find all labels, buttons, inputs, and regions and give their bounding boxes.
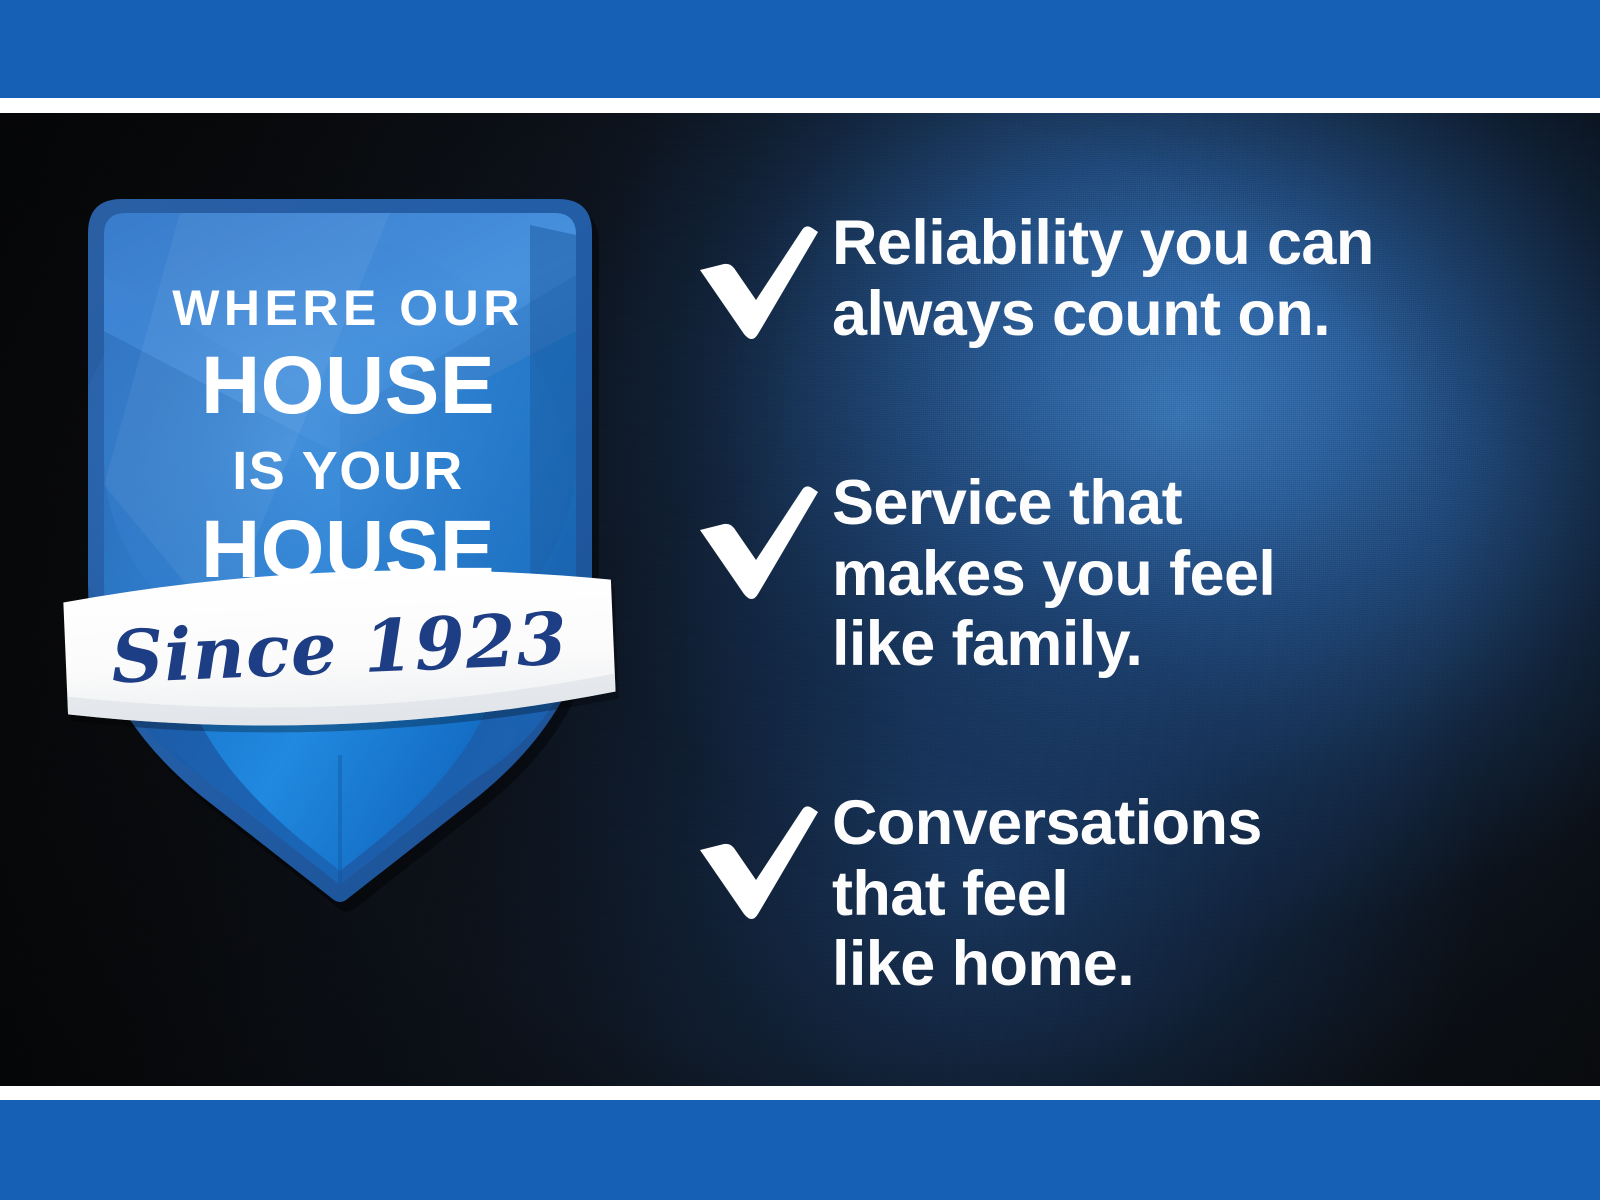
- benefits-list: Reliability you can always count on. Ser…: [660, 113, 1540, 1086]
- list-item-line: like family.: [832, 609, 1532, 680]
- list-item-text: Service that makes you feel like family.: [832, 468, 1532, 680]
- list-item-line: Service that: [832, 468, 1532, 539]
- top-divider: [0, 98, 1600, 113]
- promo-graphic: WHERE OUR HOUSE IS YOUR HOUSE Since 1923…: [0, 0, 1600, 1200]
- check-icon: [680, 482, 820, 602]
- top-brand-bar: [0, 0, 1600, 98]
- badge-tagline-line-2: HOUSE: [201, 340, 495, 431]
- check-icon: [680, 802, 820, 922]
- badge-tagline-line-3: IS YOUR: [232, 441, 464, 501]
- shield-badge: WHERE OUR HOUSE IS YOUR HOUSE Since 1923: [60, 155, 620, 945]
- list-item-line: makes you feel: [832, 539, 1532, 610]
- list-item-line: like home.: [832, 929, 1532, 1000]
- list-item-text: Conversations that feel like home.: [832, 788, 1532, 1000]
- bottom-brand-bar: [0, 1100, 1600, 1200]
- check-icon: [680, 222, 820, 342]
- badge-tagline-line-1: WHERE OUR: [172, 280, 524, 336]
- list-item-line: that feel: [832, 859, 1532, 930]
- bottom-divider: [0, 1086, 1600, 1100]
- list-item-text: Reliability you can always count on.: [832, 208, 1532, 349]
- list-item-line: Reliability you can: [832, 208, 1532, 279]
- list-item-line: Conversations: [832, 788, 1532, 859]
- shield-point-crease: [338, 755, 342, 885]
- list-item-line: always count on.: [832, 279, 1532, 350]
